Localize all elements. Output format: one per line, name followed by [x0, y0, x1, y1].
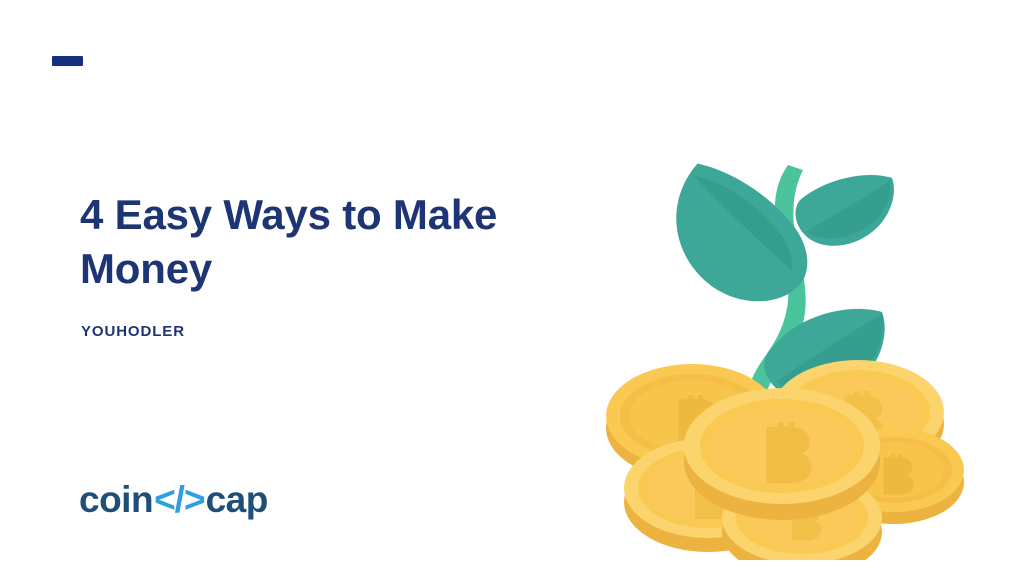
coincap-logo[interactable]: coin </> cap	[79, 480, 268, 520]
code-brackets-icon: </>	[153, 480, 206, 520]
bitcoin-plant-illustration	[600, 140, 980, 560]
brand-label: YOUHODLER	[81, 322, 185, 342]
logo-suffix-text: cap	[206, 480, 268, 520]
article-hero-card: 4 Easy Ways to Make Money YOUHODLER coin…	[0, 0, 1021, 580]
coin-center-front	[684, 388, 880, 520]
accent-dash	[52, 56, 83, 66]
page-title: 4 Easy Ways to Make Money	[80, 188, 500, 296]
logo-prefix-text: coin	[79, 480, 153, 520]
leaf-upper-right-icon	[795, 175, 893, 246]
